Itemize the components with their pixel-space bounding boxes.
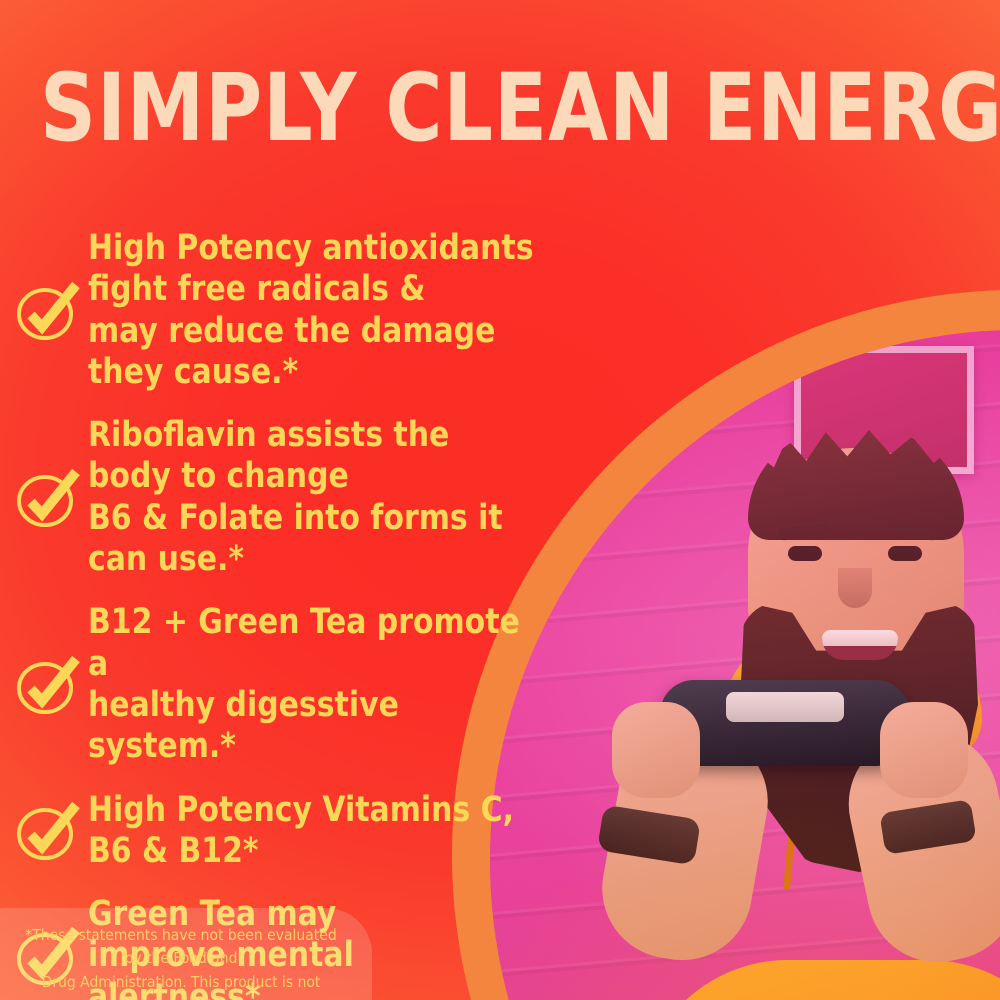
- check-circle-icon: [14, 465, 82, 531]
- list-item: High Potency antioxidants fight free rad…: [0, 228, 560, 393]
- list-item-label: High Potency Vitamins C, B6 & B12*: [88, 790, 514, 873]
- fda-disclaimer: *These statements have not been evaluate…: [0, 908, 372, 1000]
- page-title: SIMPLY CLEAN ENERGY: [40, 62, 960, 156]
- list-item-label: Riboflavin assists the body to change B6…: [88, 415, 536, 580]
- check-circle-icon: [14, 278, 82, 344]
- list-item: B12 + Green Tea promote a healthy digess…: [0, 602, 560, 767]
- list-item-label: B12 + Green Tea promote a healthy digess…: [88, 602, 536, 767]
- list-item: High Potency Vitamins C, B6 & B12*: [0, 790, 560, 873]
- check-circle-icon: [14, 652, 82, 718]
- list-item-label: High Potency antioxidants fight free rad…: [88, 228, 536, 393]
- promo-poster: SIMPLY CLEAN ENERGY High Potency antioxi…: [0, 0, 1000, 1000]
- list-item: Riboflavin assists the body to change B6…: [0, 415, 560, 580]
- poster-content: SIMPLY CLEAN ENERGY High Potency antioxi…: [0, 0, 1000, 1000]
- check-circle-icon: [14, 798, 82, 864]
- benefits-list: High Potency antioxidants fight free rad…: [0, 228, 560, 1000]
